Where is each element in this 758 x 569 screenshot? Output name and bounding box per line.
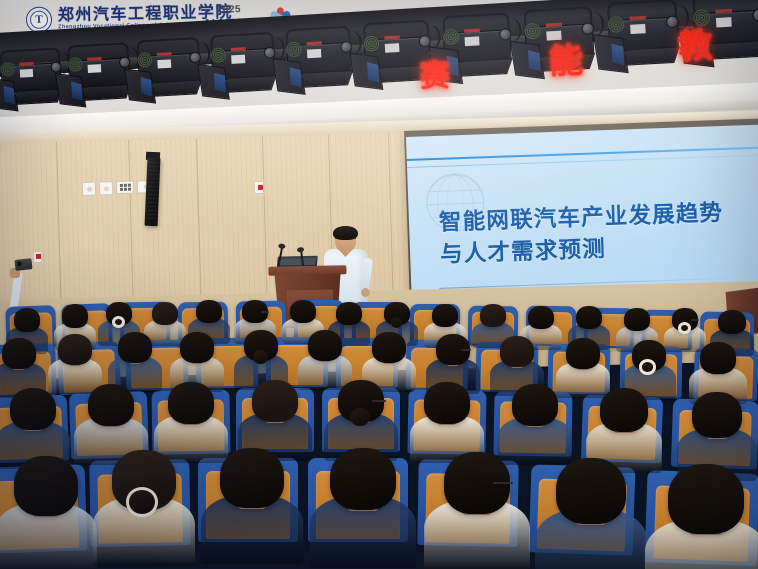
audience-head [576,306,602,329]
audience-head [700,342,736,374]
hair-scrunchie [126,487,158,516]
audience-head [600,388,648,432]
audience-seating-area [0,300,758,569]
audience-head [480,304,506,327]
audience-member [566,338,600,397]
stage-light-fixture [600,7,686,63]
stage-light-fixture [356,27,438,80]
audience-head [62,304,88,328]
audience-member [112,450,176,564]
fire-alarm-icon [254,181,264,194]
audience-head [372,332,406,363]
audience-head [10,388,56,430]
audience-head [718,310,746,334]
audience-head [220,448,284,508]
hair-bun [391,317,402,327]
audience-head [14,308,40,332]
audience-member [14,456,78,569]
audience-head [424,382,470,424]
audience-member [330,448,396,566]
event-year: 2025 [217,4,264,16]
switch-plate-1[interactable] [82,182,96,196]
switch-plate-2[interactable] [99,181,113,195]
stage-light-fixture [686,0,758,56]
hair-scrunchie [112,316,125,328]
audience-head [512,384,558,426]
audience-head [290,300,316,323]
audience-head [88,384,134,426]
audience-member [672,308,698,352]
audience-member [444,452,510,569]
audience-head [168,382,214,424]
audience-head [432,304,458,327]
audience-head [14,456,78,516]
phone-icon [14,258,32,271]
audience-head [2,338,36,369]
audience-member [118,332,152,391]
slide-accent-line [407,146,758,161]
audience-head [624,308,650,331]
audience-head [556,458,626,524]
glasses-icon [493,482,513,484]
hair-bun [253,350,268,364]
glasses-icon [335,238,356,243]
audience-member [424,382,470,462]
fire-alarm-icon [33,251,42,263]
audience-head [252,380,298,422]
audience-member [668,464,744,569]
audience-head [58,334,92,365]
audience-member [308,330,342,389]
crest-letter: T [27,14,51,26]
audience-head [692,392,742,438]
hair-scrunchie [678,322,691,334]
audience-head [500,336,534,367]
stage-light-fixture [131,44,208,94]
stage-light-fixture [436,20,519,74]
stage-light-fixture [279,33,359,85]
audience-head [196,300,222,323]
audience-head [308,330,342,361]
audience-member [220,448,284,562]
audience-head [336,302,362,325]
audience-member [556,458,626,569]
audience-head [566,338,600,369]
stage-light-fixture [517,14,602,69]
audience-head [118,332,152,363]
audience-member [152,302,178,346]
glasses-icon [461,349,471,351]
audience-head [528,306,554,329]
glasses-icon [372,400,386,402]
wall-switch-panel[interactable] [82,180,155,196]
audience-head [152,302,178,325]
audience-member [58,334,92,393]
slide-title: 智能网联汽车产业发展趋势 与人才需求预测 [438,196,758,271]
stage-light-fixture [204,39,283,90]
audience-head [668,464,744,534]
audience-head [180,332,214,363]
glasses-icon [261,311,269,313]
control-keypad[interactable] [116,181,134,194]
auditorium-photo: T 郑州汽车工程职业学院 Zhengzhou Vocational Colleg… [0,0,758,569]
audience-head [330,448,396,510]
glasses-icon [691,319,699,321]
presenter-hand [361,288,370,297]
audience-member [512,384,558,464]
